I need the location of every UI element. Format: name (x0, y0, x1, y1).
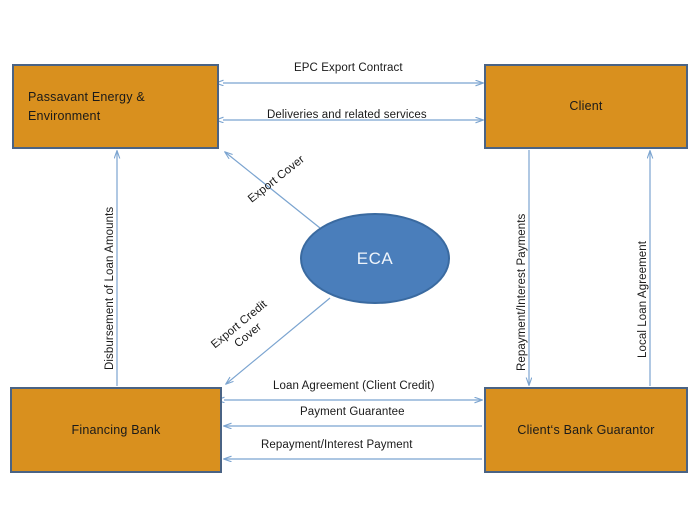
node-label: Client (561, 97, 610, 115)
node-client[interactable]: Client (484, 64, 688, 149)
edge-label-disbursement-of-loan-amounts: Disbursement of Loan Amounts (104, 207, 116, 370)
node-label-line1: Passavant Energy & (28, 88, 145, 106)
edge-label-local-loan-agreement: Local Loan Agreement (637, 241, 649, 358)
node-label: Financing Bank (64, 421, 169, 439)
node-financing-bank[interactable]: Financing Bank (10, 387, 222, 473)
edge-label-loan-agreement-client-credit: Loan Agreement (Client Credit) (273, 380, 435, 392)
node-label: Passavant Energy & Environment (14, 88, 159, 124)
node-label: ECA (357, 249, 393, 269)
node-label: Client‘s Bank Guarantor (509, 421, 662, 439)
edge-label-deliveries-and-related-services: Deliveries and related services (267, 109, 427, 121)
edge-label-payment-guarantee: Payment Guarantee (300, 406, 405, 418)
node-label-line2: Environment (28, 107, 145, 125)
edge-label-epc-export-contract: EPC Export Contract (294, 62, 403, 74)
edge-label-repayment-interest-payments: Repayment/Interest Payments (516, 214, 528, 371)
edge-label-repayment-interest-payment: Repayment/Interest Payment (261, 439, 413, 451)
node-eca[interactable]: ECA (300, 213, 450, 304)
node-passavant-energy-environment[interactable]: Passavant Energy & Environment (12, 64, 219, 149)
node-clients-bank-guarantor[interactable]: Client‘s Bank Guarantor (484, 387, 688, 473)
